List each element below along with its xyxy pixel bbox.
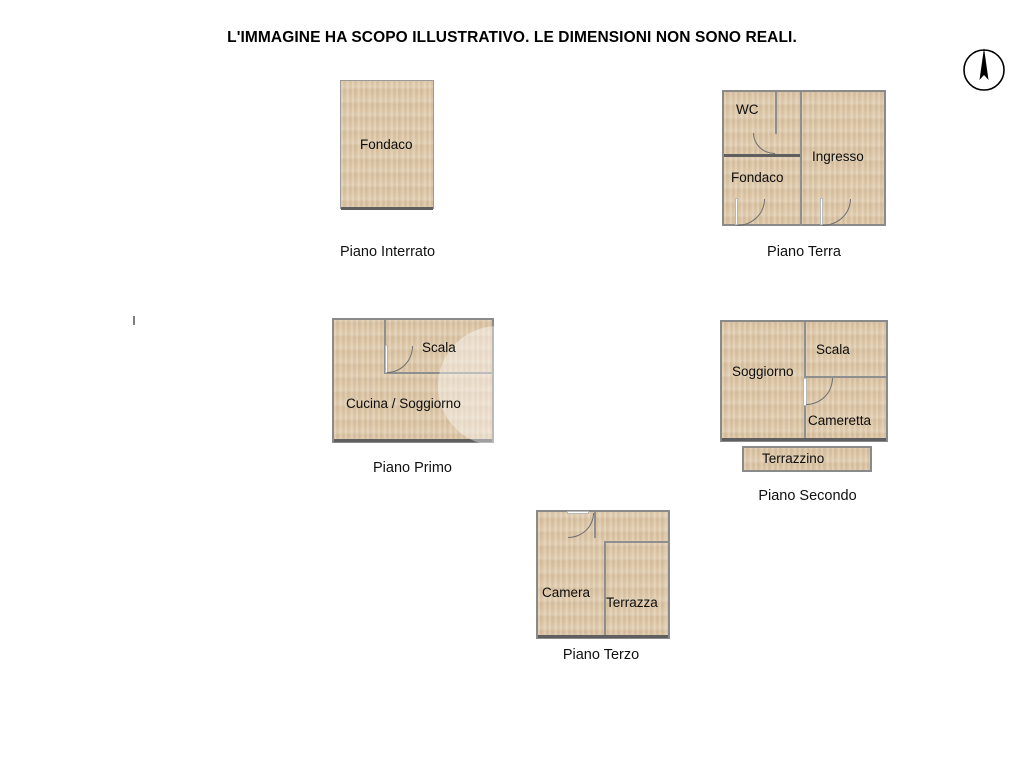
north-compass-icon [962,46,1006,92]
room-label-scala: Scala [816,342,850,357]
room-label-fondaco: Fondaco [360,137,413,152]
caption-piano-primo: Piano Primo [310,460,515,476]
plan-piano-terzo: Camera Terrazza Piano Terzo [536,510,736,690]
partition-scala-bottom [384,372,494,374]
floor-outline-piano-terzo [536,510,670,639]
wall-bottom [538,635,668,638]
room-label-fondaco: Fondaco [731,170,784,185]
room-label-cucina-soggiorno: Cucina / Soggiorno [346,396,461,411]
room-label-soggiorno: Soggiorno [732,364,794,379]
plan-piano-terra: WC Fondaco Ingresso Piano Terra [722,90,922,280]
room-label-ingresso: Ingresso [812,149,864,164]
caption-piano-terra: Piano Terra [704,244,904,260]
partition-wc-bottom [724,154,800,157]
wall-bottom [334,439,492,442]
room-label-wc: WC [736,102,759,117]
caption-piano-secondo: Piano Secondo [700,488,915,504]
room-label-terrazza: Terrazza [606,595,658,610]
caption-piano-interrato: Piano Interrato [295,244,480,260]
plan-piano-primo: Scala Cucina / Soggiorno Piano Primo [332,318,552,508]
partition-wc-right [775,92,777,134]
wall-bottom [341,207,433,210]
floor-outline-piano-primo [332,318,494,443]
partition-entry-right [594,512,596,538]
plan-piano-interrato: Fondaco Piano Interrato [340,80,540,270]
plan-piano-secondo: Soggiorno Scala Cameretta Terrazzino Pia… [720,320,940,520]
partition-terrazza-top [604,541,670,543]
floorplan-page: L'IMMAGINE HA SCOPO ILLUSTRATIVO. LE DIM… [0,0,1024,768]
partition-terrazza-left [604,541,606,637]
disclaimer-text: L'IMMAGINE HA SCOPO ILLUSTRATIVO. LE DIM… [0,29,1024,47]
caption-piano-terzo: Piano Terzo [501,647,701,663]
wall-bottom-main [722,438,886,441]
stray-tick-mark [133,316,135,325]
room-label-scala: Scala [422,340,456,355]
room-label-terrazzino: Terrazzino [762,451,824,466]
partition-vertical-main [800,92,802,226]
room-label-cameretta: Cameretta [808,413,871,428]
room-label-camera: Camera [542,585,590,600]
